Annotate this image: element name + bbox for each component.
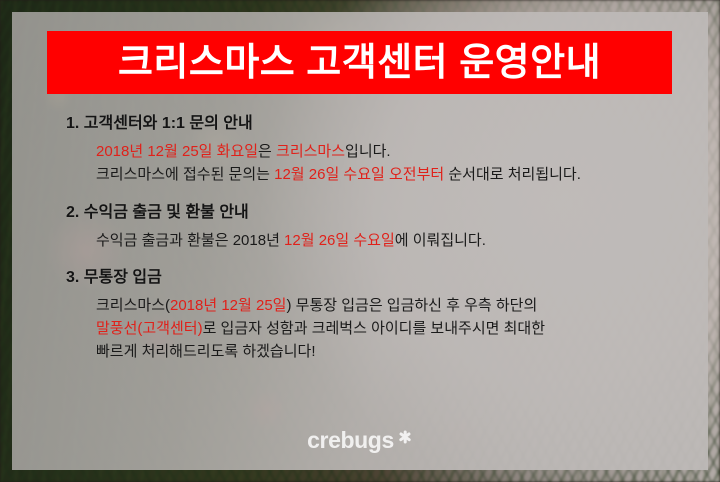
content-panel: 크리스마스 고객센터 운영안내 1. 고객센터와 1:1 문의 안내2018년 …: [12, 12, 708, 470]
title-banner: 크리스마스 고객센터 운영안내: [47, 31, 672, 94]
plain-text: 입니다.: [345, 143, 391, 160]
section-body: 크리스마스(2018년 12월 25일) 무통장 입금은 입금하신 후 우측 하…: [66, 295, 688, 363]
section-body: 2018년 12월 25일 화요일은 크리스마스입니다.크리스마스에 접수된 문…: [66, 141, 688, 187]
notice-section: 1. 고객센터와 1:1 문의 안내2018년 12월 25일 화요일은 크리스…: [66, 112, 688, 187]
plain-text: 은: [258, 143, 276, 160]
plain-text: 크리스마스(: [96, 297, 170, 314]
notice-section: 2. 수익금 출금 및 환불 안내수익금 출금과 환불은 2018년 12월 2…: [66, 201, 688, 253]
plain-text: 에 이뤄집니다.: [395, 232, 486, 249]
section-line: 크리스마스에 접수된 문의는 12월 26일 수요일 오전부터 순서대로 처리됩…: [96, 164, 688, 187]
plain-text: 로 입금자 성함과 크레벅스 아이디를 보내주시면 최대한: [203, 320, 545, 337]
section-line: 크리스마스(2018년 12월 25일) 무통장 입금은 입금하신 후 우측 하…: [96, 295, 688, 318]
brand-logo: crebugs: [12, 429, 708, 452]
plain-text: 빠르게 처리해드리도록 하겠습니다!: [96, 343, 316, 360]
notice-section: 3. 무통장 입금크리스마스(2018년 12월 25일) 무통장 입금은 입금…: [66, 266, 688, 363]
section-body: 수익금 출금과 환불은 2018년 12월 26일 수요일에 이뤄집니다.: [66, 230, 688, 253]
highlighted-text: 2018년 12월 25일 화요일: [96, 143, 258, 160]
plain-text: 수익금 출금과 환불은 2018년: [96, 232, 284, 249]
section-line: 빠르게 처리해드리도록 하겠습니다!: [96, 341, 688, 364]
highlighted-text: 12월 26일 수요일 오전부터: [274, 166, 444, 183]
bug-icon: [398, 430, 413, 445]
highlighted-text: 말풍선(고객센터): [96, 320, 203, 337]
section-line: 수익금 출금과 환불은 2018년 12월 26일 수요일에 이뤄집니다.: [96, 230, 688, 253]
highlighted-text: 12월 26일 수요일: [284, 232, 395, 249]
highlighted-text: 2018년 12월 25일: [170, 297, 286, 314]
plain-text: 순서대로 처리됩니다.: [444, 166, 581, 183]
plain-text: ) 무통장 입금은 입금하신 후 우측 하단의: [286, 297, 537, 314]
section-line: 말풍선(고객센터)로 입금자 성함과 크레벅스 아이디를 보내주시면 최대한: [96, 318, 688, 341]
section-heading: 2. 수익금 출금 및 환불 안내: [66, 201, 688, 225]
poster-notice: 크리스마스 고객센터 운영안내 1. 고객센터와 1:1 문의 안내2018년 …: [0, 0, 720, 482]
plain-text: 크리스마스에 접수된 문의는: [96, 166, 274, 183]
highlighted-text: 크리스마스: [276, 143, 345, 160]
notice-sections: 1. 고객센터와 1:1 문의 안내2018년 12월 25일 화요일은 크리스…: [66, 112, 688, 364]
section-heading: 3. 무통장 입금: [66, 266, 688, 290]
page-title: 크리스마스 고객센터 운영안내: [118, 44, 601, 82]
section-heading: 1. 고객센터와 1:1 문의 안내: [66, 112, 688, 136]
section-line: 2018년 12월 25일 화요일은 크리스마스입니다.: [96, 141, 688, 164]
brand-logo-text: crebugs: [307, 429, 394, 452]
